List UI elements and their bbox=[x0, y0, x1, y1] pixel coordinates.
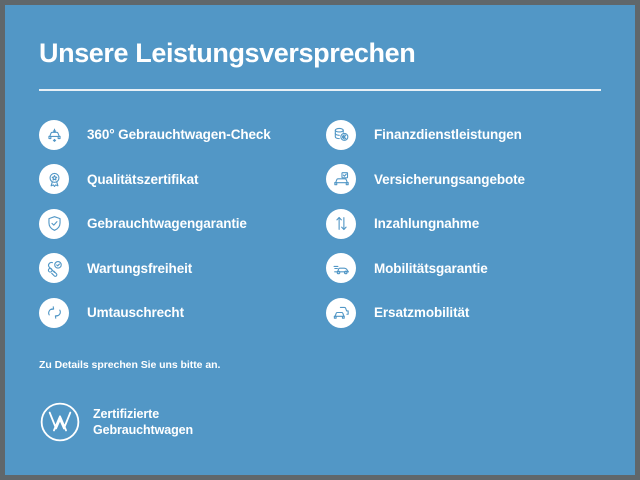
brand-line-1: Zertifizierte bbox=[93, 406, 193, 423]
promise-label: Versicherungsangebote bbox=[374, 172, 525, 187]
promise-label: Gebrauchtwagengarantie bbox=[87, 216, 247, 231]
tow-truck-icon bbox=[326, 253, 356, 283]
brand-lockup: Zertifizierte Gebrauchtwagen bbox=[39, 401, 601, 443]
promise-label: Wartungsfreiheit bbox=[87, 261, 192, 276]
award-rosette-icon bbox=[39, 164, 69, 194]
promise-label: Qualitätszertifikat bbox=[87, 172, 198, 187]
promise-item-360-check: 360° Gebrauchtwagen-Check bbox=[39, 113, 320, 158]
car-document-icon bbox=[326, 164, 356, 194]
promise-item-exchange-right: Umtauschrecht bbox=[39, 291, 320, 336]
volkswagen-logo bbox=[39, 401, 81, 443]
promise-label: Mobilitätsgarantie bbox=[374, 261, 488, 276]
promise-label: 360° Gebrauchtwagen-Check bbox=[87, 127, 271, 142]
promise-label: Finanzdienstleistungen bbox=[374, 127, 522, 142]
promise-label: Inzahlungnahme bbox=[374, 216, 479, 231]
title-divider bbox=[39, 89, 601, 91]
promise-item-warranty: Gebrauchtwagengarantie bbox=[39, 202, 320, 247]
footnote-text: Zu Details sprechen Sie uns bitte an. bbox=[39, 359, 601, 371]
promise-item-quality-certificate: Qualitätszertifikat bbox=[39, 157, 320, 202]
coins-euro-icon bbox=[326, 120, 356, 150]
wrench-check-icon bbox=[39, 253, 69, 283]
promise-label: Umtauschrecht bbox=[87, 305, 184, 320]
up-down-arrows-icon bbox=[326, 209, 356, 239]
promises-column-right: Finanzdienstleistungen Versicherungsange… bbox=[320, 113, 601, 336]
promises-column-left: 360° Gebrauchtwagen-Check Qualitätszerti… bbox=[39, 113, 320, 336]
brand-line-2: Gebrauchtwagen bbox=[93, 422, 193, 439]
promise-label: Ersatzmobilität bbox=[374, 305, 469, 320]
promise-item-trade-in: Inzahlungnahme bbox=[326, 202, 601, 247]
service-promises-card: Unsere Leistungsversprechen bbox=[0, 0, 640, 480]
two-cars-icon bbox=[326, 298, 356, 328]
promise-item-maintenance-free: Wartungsfreiheit bbox=[39, 246, 320, 291]
promise-item-replacement-mobility: Ersatzmobilität bbox=[326, 291, 601, 336]
brand-name: Zertifizierte Gebrauchtwagen bbox=[93, 406, 193, 439]
promises-columns: 360° Gebrauchtwagen-Check Qualitätszerti… bbox=[39, 113, 601, 336]
promise-item-mobility-guarantee: Mobilitätsgarantie bbox=[326, 246, 601, 291]
car-360-check-icon bbox=[39, 120, 69, 150]
exchange-arrows-icon bbox=[39, 298, 69, 328]
promise-item-insurance: Versicherungsangebote bbox=[326, 157, 601, 202]
promise-item-financial-services: Finanzdienstleistungen bbox=[326, 113, 601, 158]
page-title: Unsere Leistungsversprechen bbox=[39, 39, 601, 69]
shield-check-icon bbox=[39, 209, 69, 239]
